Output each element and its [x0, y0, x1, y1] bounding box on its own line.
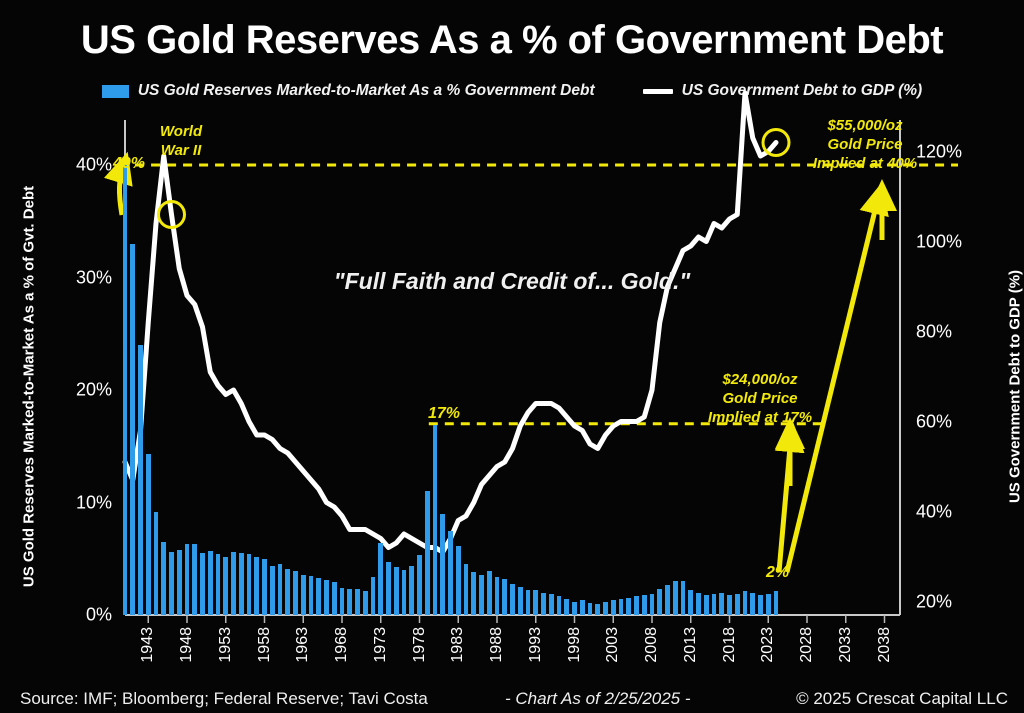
bar — [371, 577, 376, 615]
bar — [169, 552, 174, 615]
bar — [208, 551, 213, 615]
bar — [378, 543, 383, 615]
bar — [774, 591, 779, 615]
bar — [309, 576, 314, 615]
bar — [704, 595, 709, 615]
y-axis-left-title: US Gold Reserves Marked-to-Market As a %… — [21, 172, 38, 602]
bar — [634, 596, 639, 615]
bar — [502, 579, 507, 615]
bar — [681, 581, 686, 615]
bar — [138, 345, 143, 615]
bar — [161, 542, 166, 615]
bar — [417, 555, 422, 615]
bar — [650, 594, 655, 615]
bar — [247, 554, 252, 615]
bar — [549, 594, 554, 615]
footer-copyright: © 2025 Crescat Capital LLC — [796, 689, 1008, 709]
bar — [727, 595, 732, 615]
line-and-annotation-overlay — [125, 120, 900, 615]
bar — [192, 544, 197, 615]
plot-area — [125, 120, 900, 615]
bar — [580, 600, 585, 615]
debt-to-gdp-line — [125, 93, 776, 552]
arrow-2-to-17 — [779, 436, 791, 572]
bar — [619, 599, 624, 615]
bar — [510, 584, 515, 616]
bar — [564, 599, 569, 615]
bar — [479, 575, 484, 616]
y-axis-left-tick: 0% — [40, 605, 112, 626]
bar — [541, 593, 546, 616]
bar — [440, 514, 445, 615]
annotation-implied-24000: $24,000/oz Gold Price Implied at 17% — [690, 370, 830, 427]
annotation-implied-55000: $55,000/oz Gold Price Implied at 40% — [795, 116, 935, 173]
bar — [146, 454, 151, 615]
annotation-55k-line2: Gold Price — [795, 135, 935, 154]
bar — [464, 564, 469, 615]
bar — [626, 598, 631, 615]
bar — [766, 594, 771, 615]
annotation-24k-line2: Gold Price — [690, 389, 830, 408]
annotation-low-2: 2% — [766, 564, 789, 582]
bar — [433, 425, 438, 615]
bar — [518, 587, 523, 615]
bar — [239, 553, 244, 615]
x-axis-tick-label: 2003 — [604, 627, 622, 663]
bar — [611, 600, 616, 615]
x-axis-tick-label: 2008 — [643, 627, 661, 663]
bar — [332, 582, 337, 615]
bar — [425, 491, 430, 615]
bar — [130, 244, 135, 615]
bar — [471, 572, 476, 615]
bar — [262, 559, 267, 615]
x-axis-tick-label: 1973 — [372, 627, 390, 663]
annotation-world-war-ii: World War II — [133, 122, 229, 160]
x-axis-tick-label: 1988 — [488, 627, 506, 663]
bar — [216, 554, 221, 615]
y-axis-right-tick: 80% — [916, 321, 996, 342]
footer-date: - Chart As of 2/25/2025 - — [505, 689, 691, 709]
bar — [316, 578, 321, 615]
bar — [340, 588, 345, 615]
x-axis-tick-label: 2038 — [876, 627, 894, 663]
footer-source: Source: IMF; Bloomberg; Federal Reserve;… — [20, 689, 428, 709]
y-axis-right-tick: 40% — [916, 501, 996, 522]
bar — [758, 595, 763, 615]
chart-legend: US Gold Reserves Marked-to-Market As a %… — [0, 82, 1024, 100]
annotation-wwii-line1: World — [133, 122, 229, 141]
page-title: US Gold Reserves As a % of Government De… — [0, 18, 1024, 63]
annotation-wwii-line2: War II — [133, 141, 229, 160]
y-axis-left-tick: 40% — [40, 155, 112, 176]
x-axis-tick-label: 2013 — [682, 627, 700, 663]
bar — [347, 589, 352, 615]
bar — [154, 512, 159, 616]
bar — [495, 577, 500, 615]
bar — [719, 593, 724, 616]
y-axis-right-tick: 20% — [916, 591, 996, 612]
x-axis-tick-label: 1953 — [217, 627, 235, 663]
annotation-peak-40: 40% — [113, 155, 145, 173]
y-axis-left-tick: 20% — [40, 380, 112, 401]
bar — [665, 585, 670, 615]
annotation-24k-line3: Implied at 17% — [690, 408, 830, 427]
bar — [743, 591, 748, 615]
legend-label-line: US Government Debt to GDP (%) — [682, 82, 923, 100]
x-axis-tick-label: 1968 — [333, 627, 351, 663]
bar — [402, 570, 407, 615]
x-axis-tick-label: 1958 — [256, 627, 274, 663]
bar — [557, 596, 562, 615]
bar — [533, 590, 538, 615]
x-axis-tick-label: 1963 — [294, 627, 312, 663]
x-axis-tick-label: 1948 — [178, 627, 196, 663]
annotation-24k-line1: $24,000/oz — [690, 370, 830, 389]
bar — [223, 557, 228, 616]
bar — [363, 591, 368, 615]
bar — [409, 566, 414, 616]
x-axis-tick-label: 2033 — [837, 627, 855, 663]
bar — [735, 594, 740, 615]
bar — [696, 593, 701, 616]
bar — [750, 593, 755, 616]
x-axis-tick-label: 2028 — [798, 627, 816, 663]
chart-quote: "Full Faith and Credit of... Gold." — [0, 268, 1024, 295]
bar — [185, 544, 190, 615]
annotation-55k-line3: Implied at 40% — [795, 154, 935, 173]
legend-line-swatch-icon — [643, 89, 673, 94]
bar — [572, 602, 577, 616]
bar — [657, 589, 662, 615]
bar — [278, 564, 283, 615]
bar — [200, 553, 205, 615]
x-axis-tick-label: 2023 — [759, 627, 777, 663]
legend-bar-swatch-icon — [102, 85, 129, 98]
bar — [355, 589, 360, 615]
bar — [642, 595, 647, 615]
x-axis-tick-label: 1983 — [449, 627, 467, 663]
x-axis-tick-label: 2018 — [721, 627, 739, 663]
annotation-55k-line1: $55,000/oz — [795, 116, 935, 135]
bar — [386, 562, 391, 615]
bar — [448, 531, 453, 615]
bar — [293, 571, 298, 615]
legend-item-line: US Government Debt to GDP (%) — [643, 82, 923, 100]
bar — [456, 546, 461, 615]
x-axis-tick-label: 1943 — [139, 627, 157, 663]
bar — [301, 575, 306, 616]
bar — [595, 604, 600, 615]
bar — [324, 580, 329, 615]
bar — [254, 557, 259, 616]
y-axis-right-tick: 60% — [916, 411, 996, 432]
bar — [177, 550, 182, 615]
chart-canvas: US Gold Reserves As a % of Government De… — [0, 0, 1024, 713]
bar — [673, 581, 678, 615]
annotation-peak-17: 17% — [428, 405, 460, 423]
bar — [588, 603, 593, 615]
bar — [603, 602, 608, 616]
legend-item-bars: US Gold Reserves Marked-to-Market As a %… — [102, 82, 595, 100]
bar — [270, 566, 275, 616]
x-axis-tick-label: 1998 — [566, 627, 584, 663]
y-axis-left-tick: 10% — [40, 492, 112, 513]
bar — [487, 571, 492, 615]
y-axis-right-tick: 100% — [916, 231, 996, 252]
x-axis-tick-label: 1993 — [527, 627, 545, 663]
bar — [231, 552, 236, 615]
legend-label-bars: US Gold Reserves Marked-to-Market As a %… — [138, 82, 595, 100]
bar — [688, 590, 693, 615]
x-axis-tick-label: 1978 — [411, 627, 429, 663]
y-axis-right-title: US Government Debt to GDP (%) — [1007, 172, 1024, 602]
bar — [285, 569, 290, 615]
bar — [526, 590, 531, 615]
bar — [394, 567, 399, 615]
bar — [123, 165, 128, 615]
bar — [712, 594, 717, 615]
